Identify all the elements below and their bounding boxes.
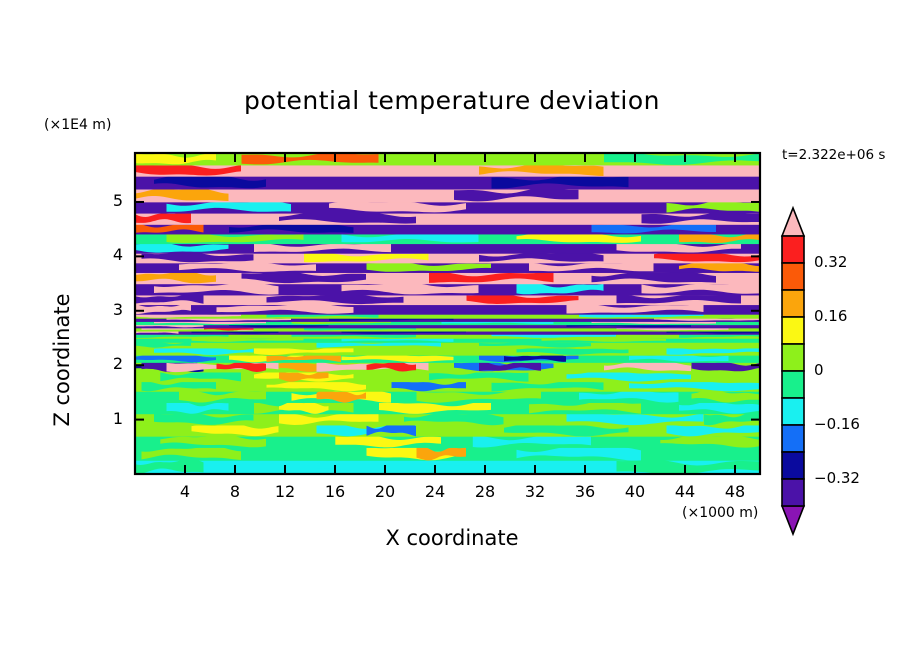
x-tick-label: 44 (665, 482, 705, 501)
y-tick-label: 4 (87, 245, 123, 264)
x-tick-label: 48 (715, 482, 755, 501)
colorbar-tick-label: 0.32 (814, 253, 847, 271)
x-tick-label: 4 (165, 482, 205, 501)
contour-plot-svg (0, 0, 904, 654)
x-tick-label: 32 (515, 482, 555, 501)
x-tick-label: 8 (215, 482, 255, 501)
x-tick-label: 40 (615, 482, 655, 501)
x-tick-label: 20 (365, 482, 405, 501)
y-tick-label: 1 (87, 409, 123, 428)
colorbar-tick-label: −0.16 (814, 415, 860, 433)
x-tick-label: 12 (265, 482, 305, 501)
figure-canvas: potential temperature deviation (×1E4 m)… (0, 0, 904, 654)
y-tick-label: 2 (87, 354, 123, 373)
x-tick-label: 16 (315, 482, 355, 501)
y-tick-label: 5 (87, 191, 123, 210)
y-tick-label: 3 (87, 300, 123, 319)
contour-field (129, 152, 766, 475)
colorbar-tick-label: 0.16 (814, 307, 847, 325)
colorbar (782, 208, 804, 534)
x-tick-label: 28 (465, 482, 505, 501)
x-tick-label: 36 (565, 482, 605, 501)
x-tick-label: 24 (415, 482, 455, 501)
colorbar-tick-label: 0 (814, 361, 824, 379)
colorbar-tick-label: −0.32 (814, 469, 860, 487)
